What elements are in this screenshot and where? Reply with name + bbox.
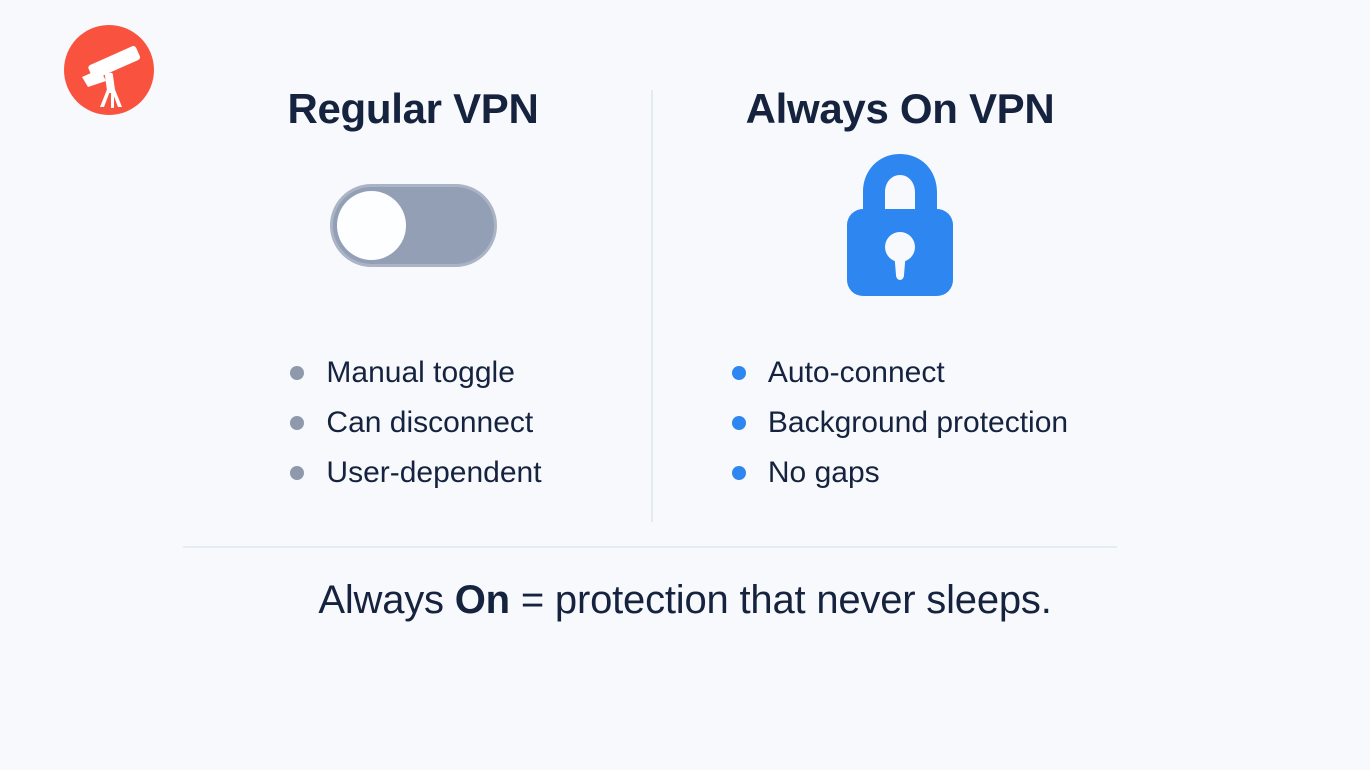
bullet-dot-icon: [290, 466, 304, 480]
tagline-emphasis: On: [455, 578, 510, 622]
bullet-dot-icon: [290, 416, 304, 430]
tagline-suffix: = protection that never sleeps.: [510, 578, 1052, 622]
toggle-knob: [337, 191, 406, 260]
vpn-toggle-switch[interactable]: [330, 184, 497, 267]
list-item-label: Manual toggle: [326, 358, 514, 388]
list-item: No gaps: [732, 448, 1068, 498]
list-item: Can disconnect: [290, 398, 541, 448]
visual-always-on-vpn: [837, 130, 963, 320]
tagline-prefix: Always: [318, 578, 454, 622]
feature-list-regular-vpn: Manual toggle Can disconnect User-depend…: [290, 348, 541, 498]
padlock-icon: [837, 152, 963, 298]
list-item-label: No gaps: [768, 458, 880, 488]
bullet-dot-icon: [290, 366, 304, 380]
list-item-label: Background protection: [768, 408, 1068, 438]
list-item: Manual toggle: [290, 348, 541, 398]
padlock-shackle: [863, 154, 937, 214]
list-item: Auto-connect: [732, 348, 1068, 398]
list-item: Background protection: [732, 398, 1068, 448]
list-item: User-dependent: [290, 448, 541, 498]
column-always-on-vpn: Always On VPN Auto-connect Background pr…: [665, 88, 1135, 498]
list-item-label: User-dependent: [326, 458, 541, 488]
list-item-label: Auto-connect: [768, 358, 945, 388]
visual-regular-vpn: [330, 130, 497, 320]
list-item-label: Can disconnect: [326, 408, 533, 438]
section-divider: [183, 546, 1117, 548]
bullet-dot-icon: [732, 466, 746, 480]
bullet-dot-icon: [732, 416, 746, 430]
column-title-regular-vpn: Regular VPN: [287, 88, 538, 130]
feature-list-always-on-vpn: Auto-connect Background protection No ga…: [732, 348, 1068, 498]
tagline: Always On = protection that never sleeps…: [0, 578, 1370, 623]
column-title-always-on-vpn: Always On VPN: [746, 88, 1055, 130]
comparison-section: Regular VPN Manual toggle Can disconnect…: [0, 88, 1370, 522]
column-regular-vpn: Regular VPN Manual toggle Can disconnect…: [178, 88, 648, 498]
bullet-dot-icon: [732, 366, 746, 380]
